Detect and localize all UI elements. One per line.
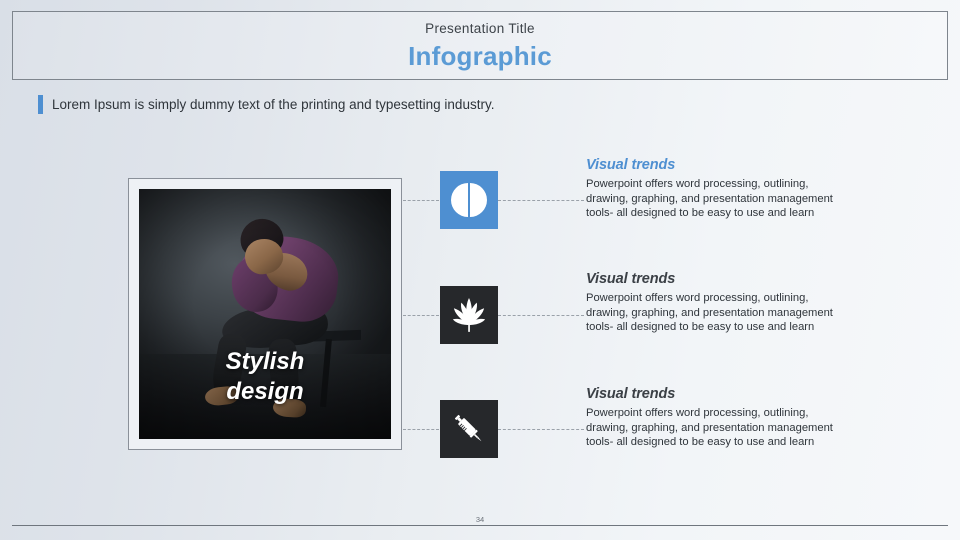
header-box: Presentation Title Infographic bbox=[12, 11, 948, 80]
photo-frame: Stylish design bbox=[128, 178, 402, 450]
icon-tile-2[interactable] bbox=[440, 286, 498, 344]
header-inner: Presentation Title Infographic bbox=[13, 12, 947, 79]
circle-split-icon bbox=[449, 180, 489, 220]
accent-bar bbox=[38, 95, 43, 114]
page-title: Infographic bbox=[408, 43, 552, 69]
content-heading-2: Visual trends bbox=[586, 271, 844, 288]
connector-left-1 bbox=[403, 200, 439, 201]
footer-divider bbox=[12, 525, 948, 526]
content-body-1: Powerpoint offers word processing, outli… bbox=[586, 177, 844, 219]
connector-right-3 bbox=[498, 429, 584, 430]
photo-caption: Stylish design bbox=[139, 347, 391, 407]
content-block-2: Visual trends Powerpoint offers word pro… bbox=[586, 271, 844, 334]
connector-right-1 bbox=[498, 200, 584, 201]
photo-caption-line2: design bbox=[139, 377, 391, 407]
connector-left-2 bbox=[403, 315, 439, 316]
subtitle-row: Lorem Ipsum is simply dummy text of the … bbox=[38, 95, 494, 114]
photo-image: Stylish design bbox=[139, 189, 391, 439]
photo-caption-line1: Stylish bbox=[139, 347, 391, 377]
connector-left-3 bbox=[403, 429, 439, 430]
content-heading-3: Visual trends bbox=[586, 386, 844, 403]
icon-tile-1[interactable] bbox=[440, 171, 498, 229]
content-block-1: Visual trends Powerpoint offers word pro… bbox=[586, 157, 844, 220]
content-heading-1: Visual trends bbox=[586, 157, 844, 174]
page-number: 34 bbox=[0, 515, 960, 524]
cannabis-leaf-icon bbox=[448, 294, 490, 336]
presentation-title: Presentation Title bbox=[425, 22, 535, 36]
connector-right-2 bbox=[498, 315, 584, 316]
subtitle-text: Lorem Ipsum is simply dummy text of the … bbox=[52, 98, 494, 112]
syringe-icon bbox=[448, 408, 490, 450]
content-body-2: Powerpoint offers word processing, outli… bbox=[586, 291, 844, 333]
content-body-3: Powerpoint offers word processing, outli… bbox=[586, 406, 844, 448]
icon-tile-3[interactable] bbox=[440, 400, 498, 458]
content-block-3: Visual trends Powerpoint offers word pro… bbox=[586, 386, 844, 449]
